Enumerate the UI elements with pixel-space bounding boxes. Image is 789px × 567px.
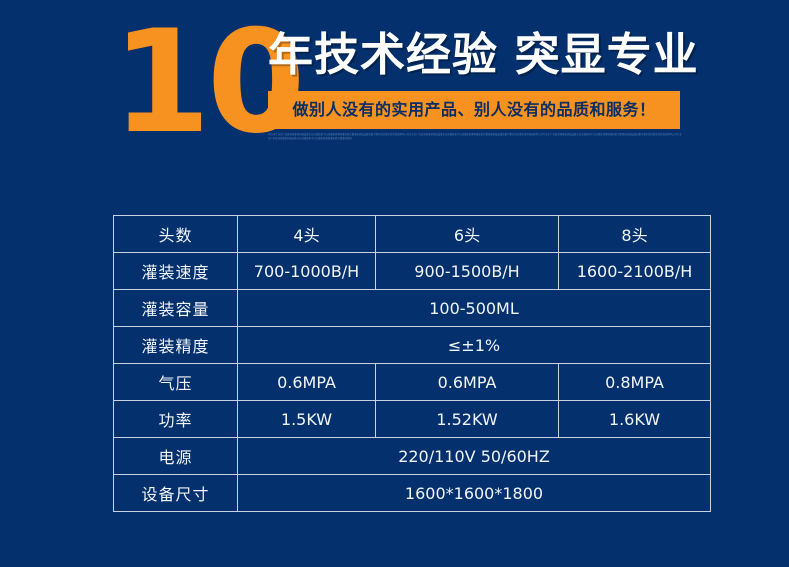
cell-value-merged: 100-500ML bbox=[238, 290, 711, 327]
table-row: 气压 0.6MPA 0.6MPA 0.8MPA bbox=[114, 364, 711, 401]
row-label: 电源 bbox=[114, 438, 238, 475]
row-label: 头数 bbox=[114, 216, 238, 253]
table-row: 电源 220/110V 50/60HZ bbox=[114, 438, 711, 475]
slogan-text: 做别人没有的实用产品、别人没有的品质和服务！ bbox=[268, 91, 680, 129]
cell-6head: 6头 bbox=[376, 216, 559, 253]
product-spec-banner: 10 年技术经验 突显专业 做别人没有的实用产品、别人没有的品质和服务！ 本公司… bbox=[0, 0, 789, 567]
spec-table-body: 头数 4头 6头 8头 灌装速度 700-1000B/H 900-1500B/H… bbox=[114, 216, 711, 512]
cell-8head: 8头 bbox=[559, 216, 711, 253]
cell-4head: 4头 bbox=[238, 216, 376, 253]
specification-table: 头数 4头 6头 8头 灌装速度 700-1000B/H 900-1500B/H… bbox=[113, 215, 711, 512]
slogan-bar: 做别人没有的实用产品、别人没有的品质和服务！ bbox=[268, 91, 680, 129]
cell-value-merged: 220/110V 50/60HZ bbox=[238, 438, 711, 475]
cell-value-merged: 1600*1600*1800 bbox=[238, 475, 711, 512]
table-row: 灌装精度 ≤±1% bbox=[114, 327, 711, 364]
cell-value-merged: ≤±1% bbox=[238, 327, 711, 364]
cell-value: 1.6KW bbox=[559, 401, 711, 438]
cell-value: 0.8MPA bbox=[559, 364, 711, 401]
cell-value: 1.52KW bbox=[376, 401, 559, 438]
years-number: 10 bbox=[112, 8, 272, 158]
row-label: 功率 bbox=[114, 401, 238, 438]
table-row: 灌装速度 700-1000B/H 900-1500B/H 1600-2100B/… bbox=[114, 253, 711, 290]
headline-text: 年技术经验 突显专业 bbox=[268, 24, 688, 86]
cell-value: 0.6MPA bbox=[376, 364, 559, 401]
row-label: 灌装速度 bbox=[114, 253, 238, 290]
table-row: 功率 1.5KW 1.52KW 1.6KW bbox=[114, 401, 711, 438]
table-row: 灌装容量 100-500ML bbox=[114, 290, 711, 327]
cell-value: 700-1000B/H bbox=[238, 253, 376, 290]
table-row: 头数 4头 6头 8头 bbox=[114, 216, 711, 253]
header-banner: 10 年技术经验 突显专业 做别人没有的实用产品、别人没有的品质和服务！ 本公司… bbox=[0, 0, 789, 175]
cell-value: 0.6MPA bbox=[238, 364, 376, 401]
row-label: 气压 bbox=[114, 364, 238, 401]
decorative-microtext: 本公司专业生产各类液体灌装机械设备全自动灌装机半自动灌装机膏体灌装机定量灌装机械… bbox=[268, 133, 683, 155]
row-label: 灌装容量 bbox=[114, 290, 238, 327]
row-label: 设备尺寸 bbox=[114, 475, 238, 512]
cell-value: 900-1500B/H bbox=[376, 253, 559, 290]
table-row: 设备尺寸 1600*1600*1800 bbox=[114, 475, 711, 512]
cell-value: 1600-2100B/H bbox=[559, 253, 711, 290]
row-label: 灌装精度 bbox=[114, 327, 238, 364]
cell-value: 1.5KW bbox=[238, 401, 376, 438]
